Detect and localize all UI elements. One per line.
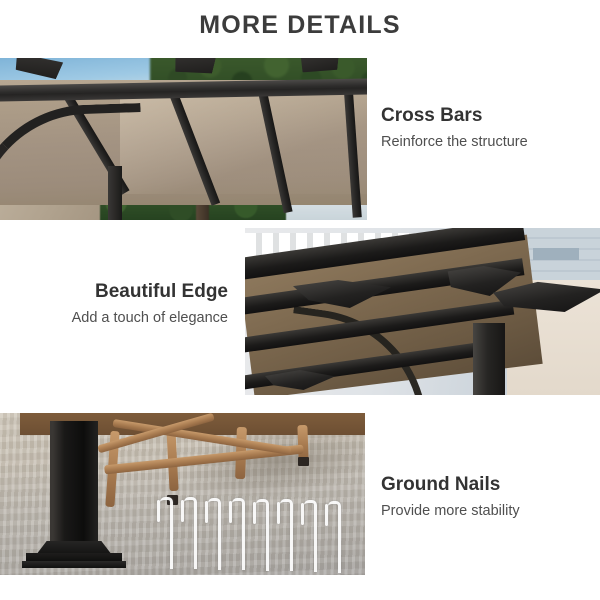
product-detail-page: MORE DETAILS Cross Bars Reinforce the st… <box>0 0 600 600</box>
ground-stake <box>328 501 341 573</box>
garage-door-panel <box>533 248 579 260</box>
ground-stake <box>160 497 173 569</box>
caption-title: Cross Bars <box>381 104 591 128</box>
support-post <box>108 166 122 220</box>
caption-cross-bars: Cross Bars Reinforce the structure <box>381 104 591 152</box>
caption-ground-nails: Ground Nails Provide more stability <box>381 473 591 521</box>
photo-beautiful-edge <box>245 228 600 395</box>
ground-stake <box>184 497 197 569</box>
caption-beautiful-edge: Beautiful Edge Add a touch of elegance <box>18 280 228 328</box>
ground-stake <box>256 499 269 571</box>
photo-ground-nails <box>0 413 365 575</box>
canopy-highlight <box>120 84 367 194</box>
ground-stake <box>280 499 293 571</box>
caption-subtitle: Add a touch of elegance <box>18 309 228 328</box>
page-title: MORE DETAILS <box>0 11 600 40</box>
caption-subtitle: Reinforce the structure <box>381 133 591 152</box>
support-post <box>473 323 505 395</box>
caption-title: Beautiful Edge <box>18 280 228 304</box>
ground-stake <box>304 500 317 572</box>
photo-cross-bars <box>0 58 367 220</box>
post-base-plate <box>22 561 126 568</box>
rattan-leg <box>297 425 308 461</box>
ground-stake <box>208 498 221 570</box>
furniture-foot <box>298 457 309 466</box>
ground-stake <box>232 498 245 570</box>
caption-subtitle: Provide more stability <box>381 502 591 521</box>
caption-title: Ground Nails <box>381 473 591 497</box>
pergola-post <box>50 421 98 546</box>
